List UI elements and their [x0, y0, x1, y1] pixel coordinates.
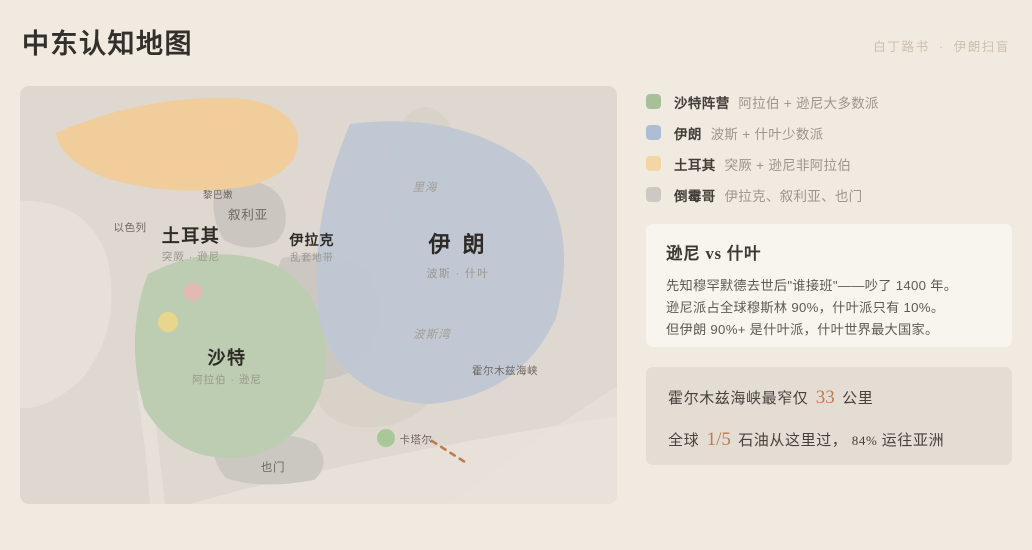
header-meta-left: 白丁路书 [873, 40, 929, 54]
persian-gulf-label: 波斯湾 [413, 328, 452, 341]
stat-width-prefix: 霍尔木兹海峡最窄仅 [668, 391, 808, 407]
iran-shape [317, 121, 564, 404]
legend-desc-iran: 波斯 + 什叶少数派 [711, 127, 824, 142]
legend-swatch-blue [646, 125, 661, 140]
saudi-label: 沙特 [208, 347, 247, 368]
legend-label-unlucky: 倒霉哥 [674, 189, 716, 204]
stat-width-suffix: 公里 [842, 391, 873, 407]
info-card-title: 逊尼 vs 什叶 [666, 240, 992, 264]
stat-oil-percent: 84% [852, 433, 878, 448]
legend-desc-saudi-bloc: 阿拉伯 + 逊尼大多数派 [738, 96, 879, 111]
stats-card-hormuz: 霍尔木兹海峡最窄仅 33 公里 全球 1/5 石油从这里过， 84% 运往亚洲 [646, 367, 1012, 465]
legend-label-turkey: 土耳其 [674, 158, 716, 173]
legend-desc-turkey: 突厥 + 逊尼非阿拉伯 [724, 158, 851, 173]
stat-line-width: 霍尔木兹海峡最窄仅 33 公里 [668, 387, 990, 409]
stat-line-oil: 全球 1/5 石油从这里过， 84% 运往亚洲 [668, 429, 990, 451]
israel-dot [158, 312, 178, 332]
turkey-shape [56, 98, 298, 191]
info-card-line-1: 先知穆罕默德去世后"谁接班"——吵了 1400 年。 [666, 275, 992, 297]
africa-landmass [20, 201, 112, 409]
stat-width-value: 33 [816, 387, 835, 408]
saudi-sublabel: 阿拉伯 · 逊尼 [192, 373, 262, 386]
legend-swatch-green [646, 94, 661, 109]
stat-oil-middle: 石油从这里过， [738, 433, 847, 449]
legend-swatch-orange [646, 156, 661, 171]
turkey-label: 土耳其 [162, 226, 221, 246]
legend-label-saudi-bloc: 沙特阵营 [674, 96, 730, 111]
iraq-label: 伊拉克 [289, 232, 335, 248]
hormuz-label: 霍尔木兹海峡 [472, 364, 538, 377]
cognitive-map-page: 中东认知地图 白丁路书 · 伊朗扫盲 [0, 0, 1032, 550]
page-title: 中东认知地图 [22, 22, 193, 61]
stat-oil-fraction: 1/5 [707, 429, 731, 450]
israel-label: 以色列 [114, 221, 147, 234]
header-meta: 白丁路书 · 伊朗扫盲 [873, 36, 1010, 55]
legend: 沙特阵营 阿拉伯 + 逊尼大多数派 伊朗 波斯 + 什叶少数派 土耳其 突厥 +… [646, 86, 1012, 210]
header-meta-right: 伊朗扫盲 [954, 40, 1010, 54]
stat-oil-prefix: 全球 [668, 433, 699, 449]
info-card-line-3: 但伊朗 90%+ 是什叶派，什叶世界最大国家。 [666, 319, 992, 341]
legend-item-unlucky[interactable]: 倒霉哥 伊拉克、叙利亚、也门 [646, 179, 1012, 210]
lebanon-label: 黎巴嫩 [203, 189, 233, 201]
info-card-line-2: 逊尼派占全球穆斯林 90%，什叶派只有 10%。 [666, 297, 992, 319]
info-card-sunni-vs-shia: 逊尼 vs 什叶 先知穆罕默德去世后"谁接班"——吵了 1400 年。 逊尼派占… [646, 224, 1012, 347]
iran-sublabel: 波斯 · 什叶 [427, 267, 490, 280]
legend-swatch-gray [646, 187, 661, 202]
caspian-sea-label: 里海 [413, 181, 438, 194]
yemen-label: 也门 [261, 460, 286, 474]
legend-label-iran: 伊朗 [674, 127, 702, 142]
turkey-sublabel: 突厥 · 逊尼 [162, 250, 220, 263]
iraq-sublabel: 乱套地带 [290, 251, 333, 264]
qatar-label: 卡塔尔 [400, 433, 433, 446]
qatar-dot [377, 429, 395, 447]
legend-item-saudi-bloc[interactable]: 沙特阵营 阿拉伯 + 逊尼大多数派 [646, 86, 1012, 117]
syria-label: 叙利亚 [228, 208, 268, 222]
map-panel[interactable]: 土耳其 突厥 · 逊尼 伊 朗 波斯 · 什叶 沙特 阿拉伯 · 逊尼 伊拉克 … [20, 86, 617, 504]
map-svg: 土耳其 突厥 · 逊尼 伊 朗 波斯 · 什叶 沙特 阿拉伯 · 逊尼 伊拉克 … [20, 86, 617, 504]
header-meta-separator: · [939, 40, 945, 54]
stat-oil-suffix: 运往亚洲 [882, 433, 944, 449]
iran-label: 伊 朗 [427, 232, 487, 257]
legend-desc-unlucky: 伊拉克、叙利亚、也门 [724, 189, 862, 204]
lebanon-dot [184, 283, 202, 301]
legend-item-iran[interactable]: 伊朗 波斯 + 什叶少数派 [646, 117, 1012, 148]
legend-item-turkey[interactable]: 土耳其 突厥 + 逊尼非阿拉伯 [646, 148, 1012, 179]
